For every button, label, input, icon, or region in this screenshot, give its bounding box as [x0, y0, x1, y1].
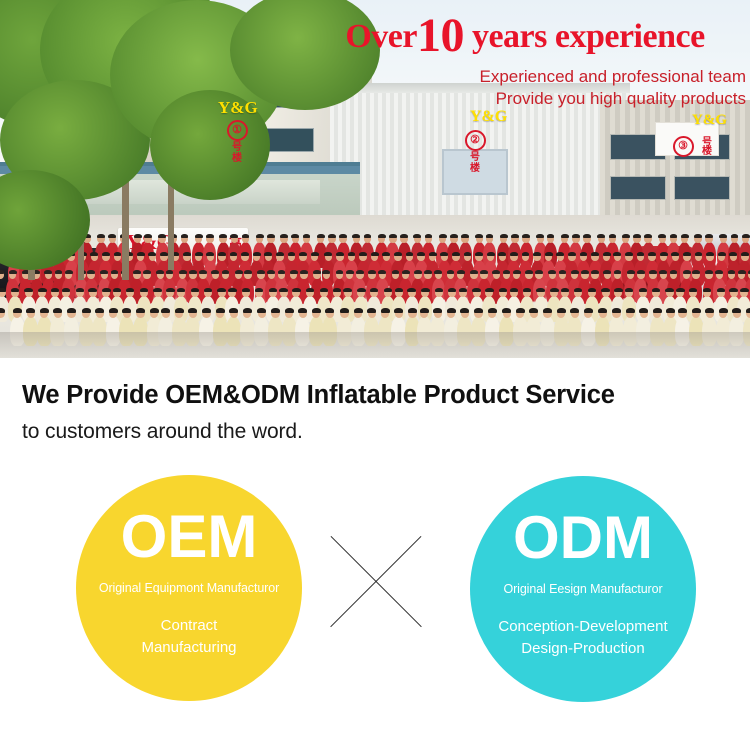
factory-photo-banner: Y&G 高 Y&G ① 号楼 Y&G: [0, 0, 750, 358]
odm-description: Conception-Development Design-Production: [498, 616, 667, 660]
oem-description: Contract Manufacturing: [141, 615, 236, 659]
banner-sub-line-1: Experienced and professional team: [300, 66, 746, 88]
building-two-cn: 号楼: [463, 152, 487, 174]
building-one-circle-number: ①: [227, 120, 248, 141]
oem-abbr: OEM: [121, 507, 258, 567]
building-two-brand: Y&G: [470, 108, 507, 126]
main-headline: We Provide OEM&ODM Inflatable Product Se…: [22, 381, 615, 410]
main-subline: to customers around the word.: [22, 420, 303, 444]
headline-number: 10: [417, 9, 464, 62]
promo-page: Y&G 高 Y&G ① 号楼 Y&G: [0, 0, 750, 748]
banner-sub-line-2: Provide you high quality products: [300, 88, 746, 110]
oem-desc-line-1: Contract: [141, 615, 236, 637]
odm-full-name: Original Eesign Manufacturor: [503, 582, 662, 596]
building-three-cn: 号楼: [702, 138, 712, 156]
building-three-number: ③ 号楼: [666, 136, 712, 157]
oem-circle: OEM Original Equipmont Manufacturor Cont…: [76, 475, 302, 701]
x-cross-icon: [312, 518, 440, 646]
building-three-brand: Y&G: [692, 112, 727, 129]
odm-desc-line-2: Design-Production: [498, 638, 667, 660]
ground-shadow: [0, 332, 750, 358]
banner-subheadline: Experienced and professional team Provid…: [300, 66, 750, 110]
odm-abbr: ODM: [513, 508, 653, 568]
oem-desc-line-2: Manufacturing: [141, 637, 236, 659]
headline-post: years experience: [472, 18, 705, 55]
building-two-number: ② 号楼: [463, 130, 487, 174]
building-one-cn: 号楼: [225, 142, 249, 164]
building-two-circle-number: ②: [465, 130, 486, 151]
building-three: [600, 100, 750, 225]
building-three-circle-number: ③: [673, 136, 694, 157]
banner-headline-block: Over10 years experience Experienced and …: [300, 12, 750, 110]
banner-headline: Over10 years experience: [300, 12, 750, 60]
building-one-brand: Y&G: [218, 98, 258, 118]
odm-circle: ODM Original Eesign Manufacturor Concept…: [470, 476, 696, 702]
odm-desc-line-1: Conception-Development: [498, 616, 667, 638]
oem-full-name: Original Equipmont Manufacturor: [99, 581, 279, 595]
headline-pre: Over: [345, 18, 417, 55]
building-one-number: ① 号楼: [225, 120, 249, 164]
